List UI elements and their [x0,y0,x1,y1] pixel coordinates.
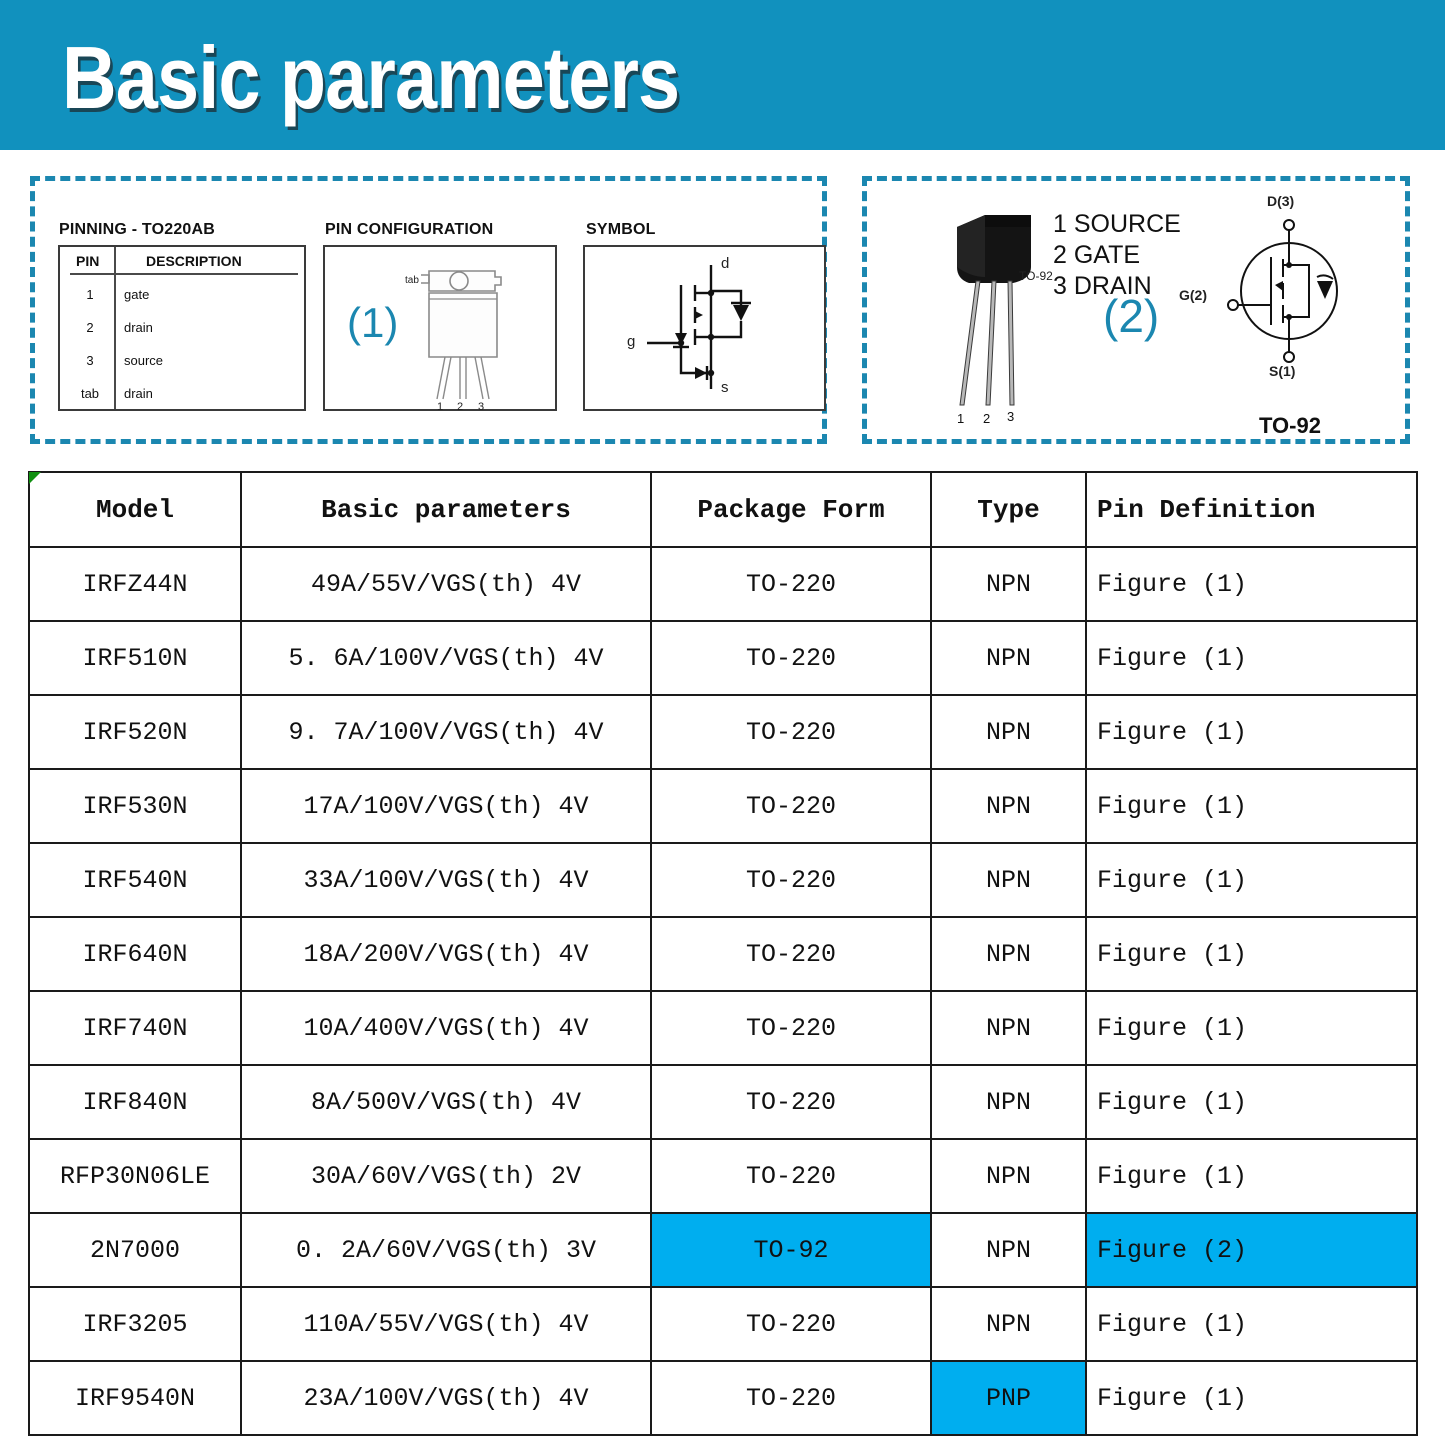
cell-package-form: TO-220 [651,1139,931,1213]
cell-basic-parameters: 5. 6A/100V/VGS(th) 4V [241,621,651,695]
cell-package-form: TO-220 [651,1065,931,1139]
green-corner-artifact [29,472,41,484]
svg-text:2: 2 [983,411,990,426]
cell-basic-parameters: 8A/500V/VGS(th) 4V [241,1065,651,1139]
cell-basic-parameters: 18A/200V/VGS(th) 4V [241,917,651,991]
symbol-box: d g s [583,245,826,411]
cell-pin-definition: Figure (1) [1086,917,1417,991]
svg-text:2: 2 [457,401,463,413]
pinning-column-divider [114,247,116,409]
cell-package-form: TO-220 [651,917,931,991]
svg-text:3: 3 [478,401,484,413]
to92-symbol-gate-label: G(2) [1179,287,1207,303]
cell-model: IRF3205 [29,1287,241,1361]
cell-pin-definition: Figure (1) [1086,1287,1417,1361]
col-header-params: Basic parameters [241,472,651,547]
pinning-table: PIN DESCRIPTION 1 gate 2 drain 3 source … [58,245,306,411]
pin-configuration-box: (1) tab 1 [323,245,557,411]
table-row: IRF510N5. 6A/100V/VGS(th) 4VTO-220NPNFig… [29,621,1417,695]
cell-model: IRF520N [29,695,241,769]
cell-type: NPN [931,695,1086,769]
pinning-title: PINNING - TO220AB [59,221,215,239]
pinning-col-header-description: DESCRIPTION [146,253,242,269]
symbol-gate-label: g [627,333,635,350]
table-row: IRF640N18A/200V/VGS(th) 4VTO-220NPNFigur… [29,917,1417,991]
cell-package-form: TO-220 [651,843,931,917]
cell-pin-definition: Figure (2) [1086,1213,1417,1287]
cell-model: IRF740N [29,991,241,1065]
to92-symbol-drain-label: D(3) [1267,193,1294,209]
cell-basic-parameters: 49A/55V/VGS(th) 4V [241,547,651,621]
cell-type: NPN [931,843,1086,917]
cell-pin-definition: Figure (1) [1086,769,1417,843]
table-header-row: Model Basic parameters Package Form Type… [29,472,1417,547]
cell-type: NPN [931,769,1086,843]
svg-text:1: 1 [437,401,443,413]
cell-pin-definition: Figure (1) [1086,991,1417,1065]
cell-pin-definition: Figure (1) [1086,1361,1417,1435]
cell-package-form: TO-220 [651,621,931,695]
pinning-row-pin: tab [68,386,112,401]
cell-model: IRF640N [29,917,241,991]
to92-pin-source: 1 SOURCE [1053,209,1181,240]
figure-1-panel: PINNING - TO220AB PIN DESCRIPTION 1 gate… [30,176,827,444]
pinning-col-header-pin: PIN [76,253,99,269]
cell-model: IRF840N [29,1065,241,1139]
to92-symbol-source-label: S(1) [1269,363,1295,379]
pinning-row-desc: gate [124,287,149,302]
cell-type: NPN [931,1139,1086,1213]
table-row: IRF9540N23A/100V/VGS(th) 4VTO-220PNPFigu… [29,1361,1417,1435]
table-row: IRF520N9. 7A/100V/VGS(th) 4VTO-220NPNFig… [29,695,1417,769]
table-row: 2N70000. 2A/60V/VGS(th) 3VTO-92NPNFigure… [29,1213,1417,1287]
page-header-banner: Basic parameters [0,0,1445,150]
cell-pin-definition: Figure (1) [1086,621,1417,695]
page-root: Basic parameters PINNING - TO220AB PIN D… [0,0,1445,1445]
cell-type: NPN [931,1287,1086,1361]
cell-basic-parameters: 110A/55V/VGS(th) 4V [241,1287,651,1361]
cell-basic-parameters: 0. 2A/60V/VGS(th) 3V [241,1213,651,1287]
cell-pin-definition: Figure (1) [1086,843,1417,917]
cell-pin-definition: Figure (1) [1086,1065,1417,1139]
col-header-type: Type [931,472,1086,547]
cell-basic-parameters: 30A/60V/VGS(th) 2V [241,1139,651,1213]
cell-pin-definition: Figure (1) [1086,1139,1417,1213]
figure-2-panel: 1 2 3 TO-92 1 SOURCE 2 GATE 3 DRAIN (2) [862,176,1410,444]
cell-type: NPN [931,547,1086,621]
mosfet-symbol-drawing [585,247,828,413]
col-header-model: Model [29,472,241,547]
pinning-row-pin: 1 [68,287,112,302]
cell-package-form: TO-92 [651,1213,931,1287]
cell-type: PNP [931,1361,1086,1435]
pinning-row-desc: source [124,353,163,368]
cell-basic-parameters: 33A/100V/VGS(th) 4V [241,843,651,917]
pin-configuration-title: PIN CONFIGURATION [325,221,493,239]
cell-package-form: TO-220 [651,695,931,769]
svg-text:3: 3 [1007,409,1014,424]
pinning-row-pin: 2 [68,320,112,335]
to220-package-drawing: 1 2 3 [325,247,559,413]
table-row: IRF540N33A/100V/VGS(th) 4VTO-220NPNFigur… [29,843,1417,917]
cell-model: RFP30N06LE [29,1139,241,1213]
table-row: IRF840N8A/500V/VGS(th) 4VTO-220NPNFigure… [29,1065,1417,1139]
cell-pin-definition: Figure (1) [1086,695,1417,769]
cell-model: IRF530N [29,769,241,843]
to92-package-label: TO-92 [1019,269,1053,283]
pinning-row-desc: drain [124,320,153,335]
cell-basic-parameters: 23A/100V/VGS(th) 4V [241,1361,651,1435]
to92-mosfet-symbol-drawing [1197,195,1377,385]
cell-model: 2N7000 [29,1213,241,1287]
symbol-drain-label: d [721,255,729,272]
parameters-table: Model Basic parameters Package Form Type… [28,471,1418,1436]
cell-model: IRFZ44N [29,547,241,621]
cell-package-form: TO-220 [651,1287,931,1361]
cell-type: NPN [931,1065,1086,1139]
cell-basic-parameters: 17A/100V/VGS(th) 4V [241,769,651,843]
table-row: IRF3205110A/55V/VGS(th) 4VTO-220NPNFigur… [29,1287,1417,1361]
pinning-row-pin: 3 [68,353,112,368]
table-row: IRFZ44N49A/55V/VGS(th) 4VTO-220NPNFigure… [29,547,1417,621]
cell-pin-definition: Figure (1) [1086,547,1417,621]
cell-basic-parameters: 9. 7A/100V/VGS(th) 4V [241,695,651,769]
cell-model: IRF510N [29,621,241,695]
figure-2-ref-label: (2) [1103,289,1159,343]
cell-package-form: TO-220 [651,769,931,843]
pinning-header-rule [70,273,298,275]
symbol-title: SYMBOL [586,221,656,239]
cell-type: NPN [931,1213,1086,1287]
cell-basic-parameters: 10A/400V/VGS(th) 4V [241,991,651,1065]
cell-type: NPN [931,991,1086,1065]
to92-pin-gate: 2 GATE [1053,240,1181,271]
pinning-row-desc: drain [124,386,153,401]
to92-footer-label: TO-92 [1259,413,1321,439]
col-header-package: Package Form [651,472,931,547]
svg-text:1: 1 [957,411,964,426]
cell-package-form: TO-220 [651,991,931,1065]
symbol-source-label: s [721,379,729,396]
table-row: RFP30N06LE30A/60V/VGS(th) 2VTO-220NPNFig… [29,1139,1417,1213]
col-header-pin-definition: Pin Definition [1086,472,1417,547]
cell-type: NPN [931,917,1086,991]
table-row: IRF740N10A/400V/VGS(th) 4VTO-220NPNFigur… [29,991,1417,1065]
page-title: Basic parameters [62,30,679,126]
cell-package-form: TO-220 [651,547,931,621]
cell-model: IRF9540N [29,1361,241,1435]
table-row: IRF530N17A/100V/VGS(th) 4VTO-220NPNFigur… [29,769,1417,843]
cell-package-form: TO-220 [651,1361,931,1435]
cell-type: NPN [931,621,1086,695]
cell-model: IRF540N [29,843,241,917]
